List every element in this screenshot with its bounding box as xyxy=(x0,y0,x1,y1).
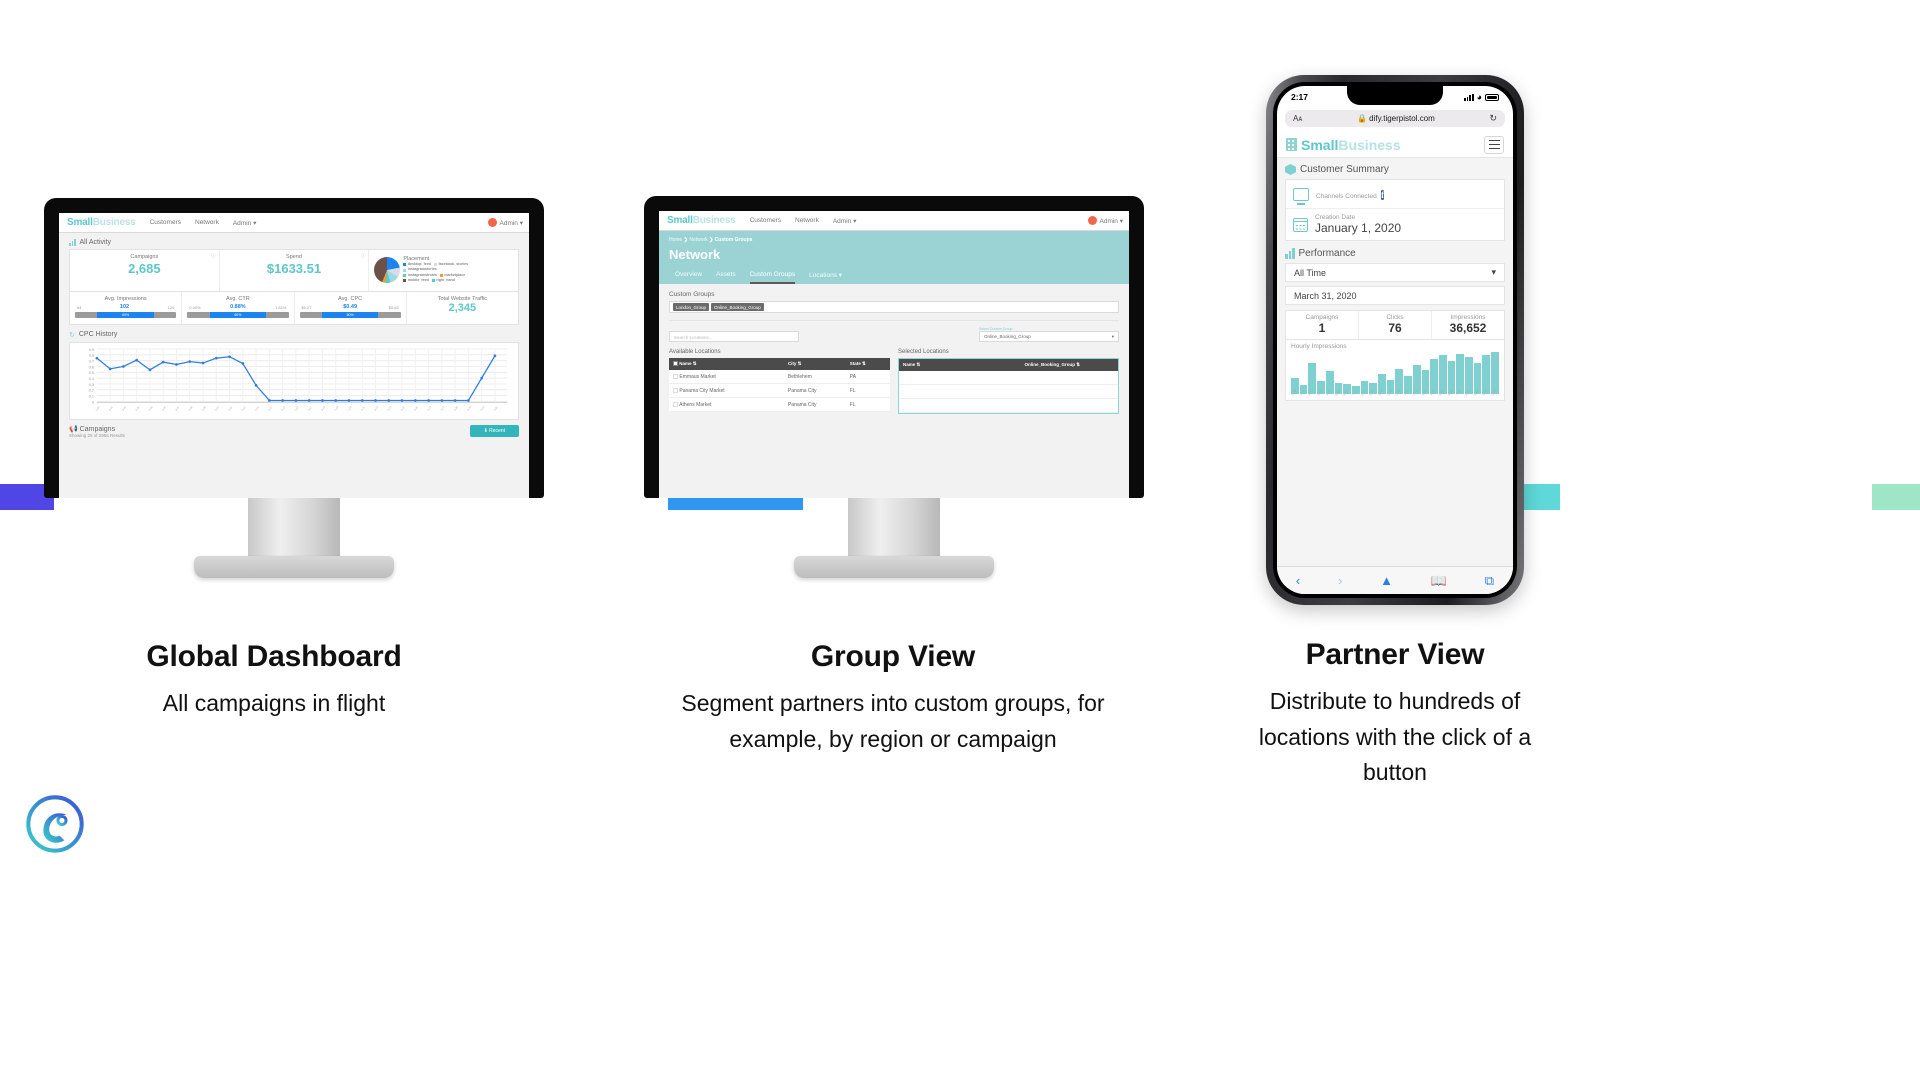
svg-text:0.5: 0.5 xyxy=(89,371,94,375)
svg-text:3-15: 3-15 xyxy=(281,405,287,411)
cpc-history-title: CPC History xyxy=(79,331,118,338)
nav-item-admin[interactable]: Admin ▾ xyxy=(833,217,857,225)
kpi-card-spend: ⓘ Spend $1633.51 xyxy=(220,250,370,291)
legend-label: facebook_stories xyxy=(439,262,469,267)
kpi-value: $1633.51 xyxy=(222,261,367,276)
legend-label: mobile_feed xyxy=(408,278,429,283)
svg-text:3-05: 3-05 xyxy=(148,405,154,411)
svg-text:3-01: 3-01 xyxy=(95,405,101,411)
tab-custom-groups[interactable]: Custom Groups xyxy=(750,271,796,284)
th-state[interactable]: State ⇅ xyxy=(846,358,890,370)
stat-key: Campaigns xyxy=(1287,314,1357,321)
svg-text:3-22: 3-22 xyxy=(374,405,380,411)
gauge-title: Avg. CTR xyxy=(187,296,288,302)
customer-summary-card: Channels Connected f Creation Date Janua… xyxy=(1285,179,1505,241)
placement-legend: desktop_feed facebook_stories instagrams… xyxy=(403,262,468,284)
creation-label: Creation Date xyxy=(1315,214,1401,221)
svg-text:3-14: 3-14 xyxy=(268,405,274,411)
info-icon[interactable]: ⓘ xyxy=(211,253,216,259)
caption-title: Group View xyxy=(640,640,1146,674)
cell-name: Emmaus Market xyxy=(669,370,784,384)
creation-date-row: Creation Date January 1, 2020 xyxy=(1286,209,1504,240)
row-checkbox[interactable] xyxy=(673,402,678,407)
nav-item-network[interactable]: Network xyxy=(195,219,219,226)
recent-button[interactable]: ⬇ Recent xyxy=(470,425,519,437)
svg-text:0.3: 0.3 xyxy=(89,382,94,386)
svg-text:3-04: 3-04 xyxy=(135,405,141,411)
available-locations-panel: Available Locations Name ⇅ City ⇅ State … xyxy=(669,349,890,414)
svg-text:0.8: 0.8 xyxy=(89,353,94,357)
kpi-card-campaigns: ⓘ Campaigns 2,685 xyxy=(70,250,220,291)
svg-text:0.7: 0.7 xyxy=(89,359,94,363)
kpi-title: Campaigns xyxy=(72,254,217,260)
cell-name: Panama City Market xyxy=(669,384,784,398)
custom-group-select-wrap: Select Custom Group Online_Booking_Group… xyxy=(979,327,1119,342)
selected-locations-title: Selected Locations xyxy=(898,349,1119,355)
connector-bar-right xyxy=(1872,484,1920,510)
caption-subtitle: All campaigns in flight xyxy=(24,686,524,722)
brand-part-2: Business xyxy=(1338,137,1400,153)
wifi-icon: ◕ xyxy=(1477,92,1482,102)
th-city[interactable]: City ⇅ xyxy=(784,358,846,370)
svg-text:3-09: 3-09 xyxy=(201,405,207,411)
phone-notch xyxy=(1347,86,1443,105)
divider xyxy=(669,320,1119,321)
channels-label: Channels Connected xyxy=(1316,193,1377,200)
breadcrumb-sep: ❯ xyxy=(684,237,688,243)
selected-locations-box: Name ⇅ Online_Booking_Group ⇅ xyxy=(898,358,1119,414)
phone-screen: 2:17 ◕ Aᴀ 🔒 dify.tigerpistol.com xyxy=(1277,86,1513,594)
legend-label: right_hand xyxy=(436,278,455,283)
placement-pie-chart xyxy=(374,257,400,283)
gauge-bar: 60% xyxy=(300,312,401,318)
svg-text:3-16: 3-16 xyxy=(294,405,300,411)
caption-partner-view: Partner View Distribute to hundreds of l… xyxy=(1250,638,1540,791)
breadcrumb: Home ❯ Network ❯ Custom Groups xyxy=(669,237,1119,243)
filter-row: Search Locations... Select Custom Group … xyxy=(669,327,1119,342)
stat-impressions: Impressions 36,652 xyxy=(1432,311,1504,339)
gauge-title: Avg. Impressions xyxy=(75,296,176,302)
campaigns-label: Campaigns xyxy=(80,426,115,433)
info-icon[interactable]: ⓘ xyxy=(361,253,366,259)
company-logo xyxy=(26,795,84,853)
monitor-group-view: SmallBusiness Customers Network Admin ▾ … xyxy=(644,196,1144,578)
breadcrumb-sep: ❯ xyxy=(709,237,713,243)
page-title: Network xyxy=(669,247,1119,262)
svg-text:3-07: 3-07 xyxy=(175,405,181,411)
search-locations-input[interactable]: Search Locations... xyxy=(669,331,799,342)
row-checkbox[interactable] xyxy=(673,374,678,379)
lock-icon: 🔒 xyxy=(1357,114,1367,123)
svg-text:3-03: 3-03 xyxy=(122,405,128,411)
gauge-avg-ctr: Avg. CTR 0.00% 0.88% 1.61% 60% xyxy=(182,292,294,324)
gauge-mid: 102 xyxy=(120,304,129,310)
cell-state: FL xyxy=(846,384,890,398)
tab-overview[interactable]: Overview xyxy=(675,271,702,284)
back-icon[interactable]: ‹ xyxy=(1296,573,1300,588)
available-locations-title: Available Locations xyxy=(669,349,890,355)
avatar xyxy=(488,218,497,227)
gauge-high: 124 xyxy=(168,305,175,310)
building-icon xyxy=(1286,138,1297,151)
performance-title: Performance xyxy=(1299,248,1356,259)
megaphone-icon: 📢 xyxy=(69,426,78,433)
caption-title: Partner View xyxy=(1250,638,1540,672)
mobile-body: Customer Summary Channels Connected f xyxy=(1277,158,1513,594)
bar-chart-icon xyxy=(1285,248,1295,259)
svg-text:3-30: 3-30 xyxy=(480,405,486,411)
table-row[interactable]: Athens Market Panama City FL xyxy=(669,398,890,412)
brand-part-2: Business xyxy=(93,217,136,228)
all-activity-title: All Activity xyxy=(80,239,112,246)
customer-summary-header: Customer Summary xyxy=(1285,164,1505,175)
breadcrumb-current: Custom Groups xyxy=(715,237,753,243)
th-name[interactable]: Name ⇅ xyxy=(899,359,987,371)
svg-text:3-26: 3-26 xyxy=(427,405,433,411)
avatar xyxy=(1088,216,1097,225)
brand-logo[interactable]: SmallBusiness xyxy=(1286,137,1401,153)
caption-group-view: Group View Segment partners into custom … xyxy=(640,640,1146,757)
svg-text:3-10: 3-10 xyxy=(215,405,221,411)
th-name[interactable]: Name ⇅ xyxy=(669,358,784,370)
kpi-value: 2,345 xyxy=(412,302,513,314)
cell-city: Bethlehem xyxy=(784,370,846,384)
brand-part-1: Small xyxy=(1301,137,1338,153)
tabs-icon[interactable]: ⧉ xyxy=(1485,573,1494,589)
dashboard-navbar: SmallBusiness Customers Network Admin ▾ … xyxy=(59,213,529,233)
browser-toolbar: ‹ › ▲ 📖 ⧉ xyxy=(1277,566,1513,594)
group-token[interactable]: Online_Booking_Group xyxy=(711,303,764,311)
kpi-value: 2,685 xyxy=(72,261,217,276)
monitor-neck xyxy=(848,498,940,556)
groupview-app: SmallBusiness Customers Network Admin ▾ … xyxy=(659,211,1129,498)
browser-url-bar[interactable]: Aᴀ 🔒 dify.tigerpistol.com ↻ xyxy=(1285,110,1505,127)
select-all-checkbox[interactable] xyxy=(673,361,678,366)
gauge-title: Avg. CPC xyxy=(300,296,401,302)
hamburger-menu-icon[interactable] xyxy=(1484,136,1504,154)
svg-text:0.4: 0.4 xyxy=(89,377,95,381)
table-row xyxy=(899,399,1118,413)
svg-text:0.1: 0.1 xyxy=(89,394,94,398)
phone-inner-bezel: 2:17 ◕ Aᴀ 🔒 dify.tigerpistol.com xyxy=(1273,82,1517,598)
hourly-title: Hourly Impressions xyxy=(1291,343,1499,350)
selected-locations-table: Name ⇅ Online_Booking_Group ⇅ xyxy=(899,359,1118,413)
dashboard-app: SmallBusiness Customers Network Admin ▾ … xyxy=(59,213,529,498)
svg-text:3-28: 3-28 xyxy=(454,405,460,411)
stat-key: Impressions xyxy=(1433,314,1503,321)
cell-empty xyxy=(899,371,987,385)
status-time: 2:17 xyxy=(1291,92,1308,102)
svg-text:0.6: 0.6 xyxy=(89,365,94,369)
th-group[interactable]: Online_Booking_Group ⇅ xyxy=(987,359,1118,371)
monitor-foot xyxy=(194,556,394,578)
performance-stats: Campaigns 1 Clicks 76 Impressions 36,652 xyxy=(1285,310,1505,340)
custom-groups-label: Custom Groups xyxy=(669,291,1119,298)
select-value: Online_Booking_Group xyxy=(984,331,1031,342)
cpc-line-chart-svg: 0.90.8 0.70.6 0.50.4 0.30.2 0.10 xyxy=(76,347,512,417)
phone-partner-view: 2:17 ◕ Aᴀ 🔒 dify.tigerpistol.com xyxy=(1266,75,1524,605)
forward-icon[interactable]: › xyxy=(1338,573,1342,588)
nav-item-network[interactable]: Network xyxy=(795,217,819,224)
date-display: March 31, 2020 xyxy=(1285,286,1505,305)
gauge-high: $0.63 xyxy=(389,305,399,310)
gauge-low: 64 xyxy=(77,305,81,310)
url-text: 🔒 dify.tigerpistol.com xyxy=(1302,114,1489,123)
gauge-high: 1.61% xyxy=(275,305,286,310)
cell-empty xyxy=(899,385,987,399)
caption-subtitle: Distribute to hundreds of locations with… xyxy=(1250,684,1540,791)
selected-locations-panel: Selected Locations Name ⇅ Online_Booking… xyxy=(898,349,1119,414)
performance-header: Performance xyxy=(1285,248,1505,259)
custom-group-select[interactable]: Online_Booking_Group ▾ xyxy=(979,331,1119,342)
gauge-fill: 60% xyxy=(322,312,379,318)
campaigns-result-count: Showing 25 of 2956 Results xyxy=(69,433,125,438)
slide-canvas: SmallBusiness Customers Network Admin ▾ … xyxy=(0,0,1920,1080)
table-row[interactable]: Panama City Market Panama City FL xyxy=(669,384,890,398)
monitor-foot xyxy=(794,556,994,578)
cell-empty xyxy=(987,399,1118,413)
cell-state: FL xyxy=(846,398,890,412)
svg-text:3-24: 3-24 xyxy=(400,405,406,411)
cell-city: Panama City xyxy=(784,384,846,398)
brand-logo[interactable]: SmallBusiness xyxy=(667,215,736,226)
tab-assets[interactable]: Assets xyxy=(716,271,736,284)
nav-item-customers[interactable]: Customers xyxy=(150,219,181,226)
user-label: Admin ▾ xyxy=(500,219,524,227)
stat-campaigns: Campaigns 1 xyxy=(1286,311,1359,339)
gauge-bar: 60% xyxy=(187,312,288,318)
caption-subtitle: Segment partners into custom groups, for… xyxy=(640,686,1146,757)
stat-value: 76 xyxy=(1360,321,1430,335)
signal-icon xyxy=(1464,94,1473,101)
brand-part-2: Business xyxy=(693,215,736,226)
kpi-card-row: ⓘ Campaigns 2,685 ⓘ Spend $1633.51 xyxy=(69,249,519,292)
nav-item-customers[interactable]: Customers xyxy=(750,217,781,224)
cell-empty xyxy=(987,371,1118,385)
cube-icon xyxy=(1285,164,1296,175)
cell-state: PA xyxy=(846,370,890,384)
url-value: dify.tigerpistol.com xyxy=(1369,114,1435,123)
svg-text:0: 0 xyxy=(92,400,94,404)
available-locations-table: Name ⇅ City ⇅ State ⇅ Emmaus Market Beth… xyxy=(669,358,890,412)
brand-part-1: Small xyxy=(67,217,93,228)
bookmarks-icon[interactable]: 📖 xyxy=(1431,573,1447,589)
svg-text:3-11: 3-11 xyxy=(228,405,233,411)
gauge-card-row: Avg. Impressions 64 102 124 60% Avg. CTR xyxy=(69,292,519,325)
customer-summary-title: Customer Summary xyxy=(1300,164,1389,175)
svg-text:3-23: 3-23 xyxy=(387,405,393,411)
table-header-row: Name ⇅ City ⇅ State ⇅ xyxy=(669,358,890,370)
calendar-icon xyxy=(1293,218,1308,232)
text-size-icon[interactable]: Aᴀ xyxy=(1293,114,1302,123)
nav-user-menu[interactable]: Admin ▾ xyxy=(488,218,524,227)
svg-text:3-25: 3-25 xyxy=(414,405,420,411)
svg-text:3-06: 3-06 xyxy=(162,405,168,411)
gauge-avg-impressions: Avg. Impressions 64 102 124 60% xyxy=(70,292,182,324)
chevron-down-icon: ▾ xyxy=(1112,331,1114,342)
campaigns-title: 📢 Campaigns xyxy=(69,425,125,433)
svg-text:3-27: 3-27 xyxy=(440,405,446,411)
gauge-mid: $0.49 xyxy=(343,304,357,310)
monitor-bezel: SmallBusiness Customers Network Admin ▾ … xyxy=(644,196,1144,498)
chevron-down-icon: ▾ xyxy=(1491,267,1496,278)
monitor-icon xyxy=(1293,188,1309,201)
kpi-title: Spend xyxy=(222,254,367,260)
recent-button-label: Recent xyxy=(489,428,505,434)
reload-icon[interactable]: ↻ xyxy=(1489,113,1497,124)
monitor-screen: SmallBusiness Customers Network Admin ▾ … xyxy=(659,211,1129,498)
groupview-navbar: SmallBusiness Customers Network Admin ▾ … xyxy=(659,211,1129,231)
time-range-value: All Time xyxy=(1294,268,1326,278)
table-row xyxy=(899,371,1118,385)
cpc-history-header: ↻ CPC History xyxy=(59,325,529,342)
user-label: Admin ▾ xyxy=(1100,217,1124,225)
history-icon: ↻ xyxy=(69,331,75,339)
monitor-global-dashboard: SmallBusiness Customers Network Admin ▾ … xyxy=(44,198,544,578)
gauge-mid: 0.88% xyxy=(230,304,246,310)
svg-text:3-20: 3-20 xyxy=(347,405,353,411)
mobile-navbar: SmallBusiness xyxy=(1277,132,1513,158)
stat-key: Clicks xyxy=(1360,314,1430,321)
group-token[interactable]: London_Group xyxy=(673,303,709,311)
locations-panels: Available Locations Name ⇅ City ⇅ State … xyxy=(669,349,1119,414)
svg-text:0.2: 0.2 xyxy=(89,388,94,392)
svg-text:3-17: 3-17 xyxy=(308,405,314,411)
brand-logo[interactable]: SmallBusiness xyxy=(67,217,136,228)
caption-global-dashboard: Global Dashboard All campaigns in flight xyxy=(24,640,524,722)
gauge-low: $0.27 xyxy=(302,305,312,310)
stat-value: 1 xyxy=(1287,321,1357,335)
hourly-impressions-chart: Hourly Impressions 12 AM1 AM2 AM3 AM4 xyxy=(1285,340,1505,401)
gauge-bar: 60% xyxy=(75,312,176,318)
facebook-icon[interactable]: f xyxy=(1381,190,1384,200)
svg-text:3-08: 3-08 xyxy=(188,405,194,411)
phone-frame: 2:17 ◕ Aᴀ 🔒 dify.tigerpistol.com xyxy=(1266,75,1524,605)
time-range-select[interactable]: All Time ▾ xyxy=(1285,263,1505,282)
bar-chart-icon xyxy=(69,239,76,246)
svg-text:3-02: 3-02 xyxy=(109,405,115,411)
cell-empty xyxy=(987,385,1118,399)
download-icon: ⬇ xyxy=(484,428,488,434)
creation-value: January 1, 2020 xyxy=(1315,221,1401,235)
monitor-screen: SmallBusiness Customers Network Admin ▾ … xyxy=(59,213,529,498)
monitor-neck xyxy=(248,498,340,556)
svg-text:3-21: 3-21 xyxy=(361,405,367,411)
svg-text:3-18: 3-18 xyxy=(321,405,327,411)
cpc-history-chart: 0.90.8 0.70.6 0.50.4 0.30.2 0.10 xyxy=(69,342,519,420)
date-value: March 31, 2020 xyxy=(1294,291,1357,301)
battery-icon xyxy=(1485,94,1499,101)
nav-user-menu[interactable]: Admin ▾ xyxy=(1088,216,1124,225)
stat-value: 36,652 xyxy=(1433,321,1503,335)
table-row[interactable]: Emmaus Market Bethlehem PA xyxy=(669,370,890,384)
page-hero: Home ❯ Network ❯ Custom Groups Network O… xyxy=(659,231,1129,284)
stat-clicks: Clicks 76 xyxy=(1359,311,1432,339)
share-icon[interactable]: ▲ xyxy=(1380,573,1393,588)
groupview-body: Custom Groups London_Group Online_Bookin… xyxy=(659,284,1129,421)
all-activity-header: All Activity xyxy=(59,233,529,249)
cell-empty xyxy=(899,399,987,413)
svg-text:3-29: 3-29 xyxy=(467,405,473,411)
channels-connected-row: Channels Connected f xyxy=(1286,180,1504,209)
custom-groups-token-input[interactable]: London_Group Online_Booking_Group xyxy=(669,301,1119,313)
table-header-row: Name ⇅ Online_Booking_Group ⇅ xyxy=(899,359,1118,371)
table-row xyxy=(899,385,1118,399)
gauge-avg-cpc: Avg. CPC $0.27 $0.49 $0.63 60% xyxy=(295,292,407,324)
gauge-low: 0.00% xyxy=(189,305,200,310)
breadcrumb-network[interactable]: Network xyxy=(689,237,707,243)
svg-text:3-19: 3-19 xyxy=(334,405,340,411)
kpi-card-placement: Placement desktop_feed facebook_stories … xyxy=(369,250,518,291)
tab-bar: Overview Assets Custom Groups Locations … xyxy=(669,271,1119,284)
breadcrumb-home[interactable]: Home xyxy=(669,237,682,243)
gauge-fill: 60% xyxy=(210,312,267,318)
tab-locations[interactable]: Locations ▾ xyxy=(809,271,842,284)
svg-text:3-12: 3-12 xyxy=(241,405,247,411)
hourly-labels: 12 AM1 AM2 AM3 AM4 AM5 AM 6 AM7 AM8 AM9 … xyxy=(1291,395,1499,398)
svg-text:3-13: 3-13 xyxy=(254,405,260,411)
nav-item-admin[interactable]: Admin ▾ xyxy=(233,219,257,227)
svg-text:3-31: 3-31 xyxy=(493,405,499,411)
cell-city: Panama City xyxy=(784,398,846,412)
row-checkbox[interactable] xyxy=(673,388,678,393)
campaigns-footer: 📢 Campaigns Showing 25 of 2956 Results ⬇… xyxy=(59,420,529,438)
kpi-total-website-traffic: Total Website Traffic 2,345 xyxy=(407,292,518,324)
svg-text:0.9: 0.9 xyxy=(89,347,94,351)
brand-part-1: Small xyxy=(667,215,693,226)
monitor-bezel: SmallBusiness Customers Network Admin ▾ … xyxy=(44,198,544,498)
cell-name: Athens Market xyxy=(669,398,784,412)
caption-title: Global Dashboard xyxy=(24,640,524,674)
gauge-fill: 60% xyxy=(97,312,154,318)
